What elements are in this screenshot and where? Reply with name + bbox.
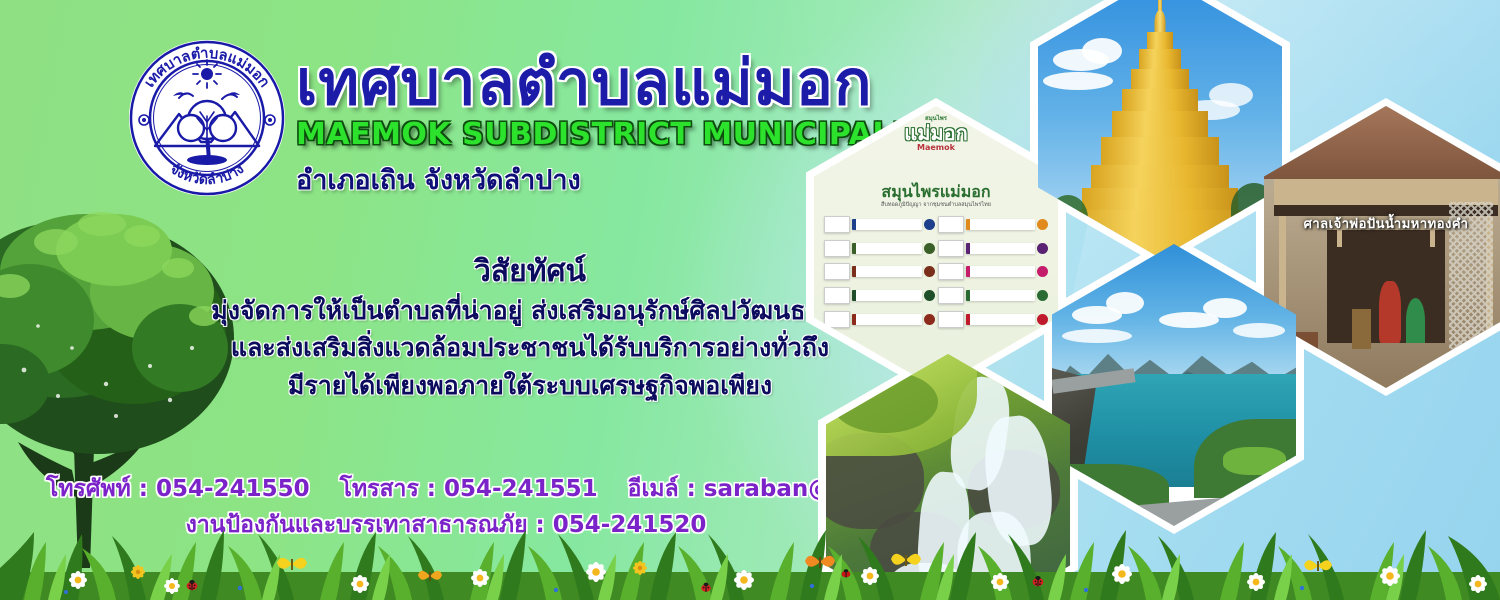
herbs-product-cell <box>824 261 935 282</box>
herbs-product-cell <box>938 214 1049 235</box>
herbs-product-label <box>852 290 922 301</box>
herbs-product-cell <box>938 238 1049 259</box>
herbs-product-image <box>938 240 964 257</box>
emergency-label: งานป้องกันและบรรเทาสาธารณภัย : <box>186 512 545 538</box>
herbs-product-cell <box>938 261 1049 282</box>
herbs-logo-big: แม่มอก <box>904 123 967 143</box>
herbs-product-image <box>938 287 964 304</box>
vision-line-1: มุ่งจัดการให้เป็นตำบลที่น่าอยู่ ส่งเสริม… <box>180 292 880 330</box>
herbs-product-image <box>938 311 964 328</box>
herbs-product-swatch <box>1037 219 1048 230</box>
email-label: อีเมล์ : <box>628 476 696 502</box>
yellow-flowers <box>131 561 647 579</box>
emergency-value[interactable]: 054-241520 <box>553 512 707 538</box>
fax-label: โทรสาร : <box>340 476 436 502</box>
contact-block: โทรศัพท์ : 054-241550 โทรสาร : 054-24155… <box>46 472 846 543</box>
herbs-product-row <box>824 261 1048 282</box>
herbs-product-label <box>852 219 922 230</box>
herbs-product-swatch <box>1037 314 1048 325</box>
herbs-product-label <box>966 219 1036 230</box>
contact-row-primary: โทรศัพท์ : 054-241550 โทรสาร : 054-24155… <box>46 472 846 508</box>
herbs-product-cell <box>824 214 935 235</box>
herbs-product-image <box>938 263 964 280</box>
phone-value[interactable]: 054-241550 <box>156 476 310 502</box>
herbs-product-swatch <box>1037 266 1048 277</box>
herbs-product-label <box>852 243 922 254</box>
herbs-product-row <box>824 309 1048 330</box>
herbs-product-row <box>824 214 1048 235</box>
pagoda-photo <box>1038 0 1282 258</box>
herbs-product-image <box>824 287 850 304</box>
herbs-product-row <box>824 285 1048 306</box>
fax-value: 054-241551 <box>444 476 598 502</box>
herbs-product-label <box>852 314 922 325</box>
vision-block: วิสัยทัศน์ มุ่งจัดการให้เป็นตำบลที่น่าอย… <box>180 252 880 404</box>
herbs-product-swatch <box>924 243 935 254</box>
contact-row-emergency: งานป้องกันและบรรเทาสาธารณภัย : 054-24152… <box>46 508 846 544</box>
herbs-product-label <box>966 243 1036 254</box>
vision-line-2: และส่งเสริมสิ่งแวดล้อมประชาชนได้รับบริกา… <box>180 329 880 367</box>
herbs-product-image <box>824 263 850 280</box>
herbs-product-label <box>966 314 1036 325</box>
herbs-product-cell <box>824 238 935 259</box>
waterfall-photo <box>826 354 1070 600</box>
herbs-product-swatch <box>924 314 935 325</box>
phone-label: โทรศัพท์ : <box>46 476 148 502</box>
herbs-social-2: www.maemok.go.th <box>848 364 884 368</box>
herbs-poster-logo: สมุนไพร แม่มอก Maemok <box>904 113 967 152</box>
pagoda-caption-line2: บ้านกุ่ม <box>1240 2 1282 14</box>
hex-golden-pagoda[interactable]: วัดพระ บ้านกุ่ม อำเภอ <box>1038 0 1282 258</box>
vision-line-3: มีรายได้เพียงพอภายใต้ระบบเศรษฐกิจพอเพียง <box>180 367 880 405</box>
herbs-poster-subtitle: สืบทอดภูมิปัญญา จากชุมชนตำบลสมุนไพรไทย <box>814 201 1058 209</box>
herbs-product-swatch <box>1037 243 1048 254</box>
hexagon-photo-collage: สมุนไพร แม่มอก Maemok สมุนไพรแม่มอก สืบท… <box>790 0 1500 600</box>
hex-waterfall[interactable] <box>826 354 1070 600</box>
qr-code-icon <box>1008 352 1036 380</box>
herbs-product-cell <box>938 309 1049 330</box>
herbs-social-3: กลุ่มวิสาหกิจชุมชน <box>848 371 877 377</box>
herbs-product-image <box>824 311 850 328</box>
herbs-product-cell <box>824 285 935 306</box>
herbs-product-image <box>938 216 964 233</box>
herbs-product-cell <box>938 285 1049 306</box>
herbs-product-image <box>824 216 850 233</box>
herbs-product-cell <box>824 309 935 330</box>
herbs-product-row <box>824 238 1048 259</box>
herbs-product-label <box>966 290 1036 301</box>
municipality-banner: เทศบาลตำบลแม่มอก จังหวัดลำปาง เทศบาลตำบล… <box>0 0 1500 600</box>
herbs-product-label <box>966 266 1036 277</box>
herbs-product-image <box>824 240 850 257</box>
herbs-product-label <box>852 266 922 277</box>
herbs-product-swatch <box>924 219 935 230</box>
pagoda-caption-line1: วัดพระ <box>1240 0 1282 2</box>
vision-heading: วิสัยทัศน์ <box>180 252 880 292</box>
herbs-product-swatch <box>1037 290 1048 301</box>
herbs-product-swatch <box>924 266 935 277</box>
herbs-product-swatch <box>924 290 935 301</box>
municipality-seal-logo: เทศบาลตำบลแม่มอก จังหวัดลำปาง <box>127 38 287 198</box>
herbs-product-grid <box>824 214 1048 352</box>
